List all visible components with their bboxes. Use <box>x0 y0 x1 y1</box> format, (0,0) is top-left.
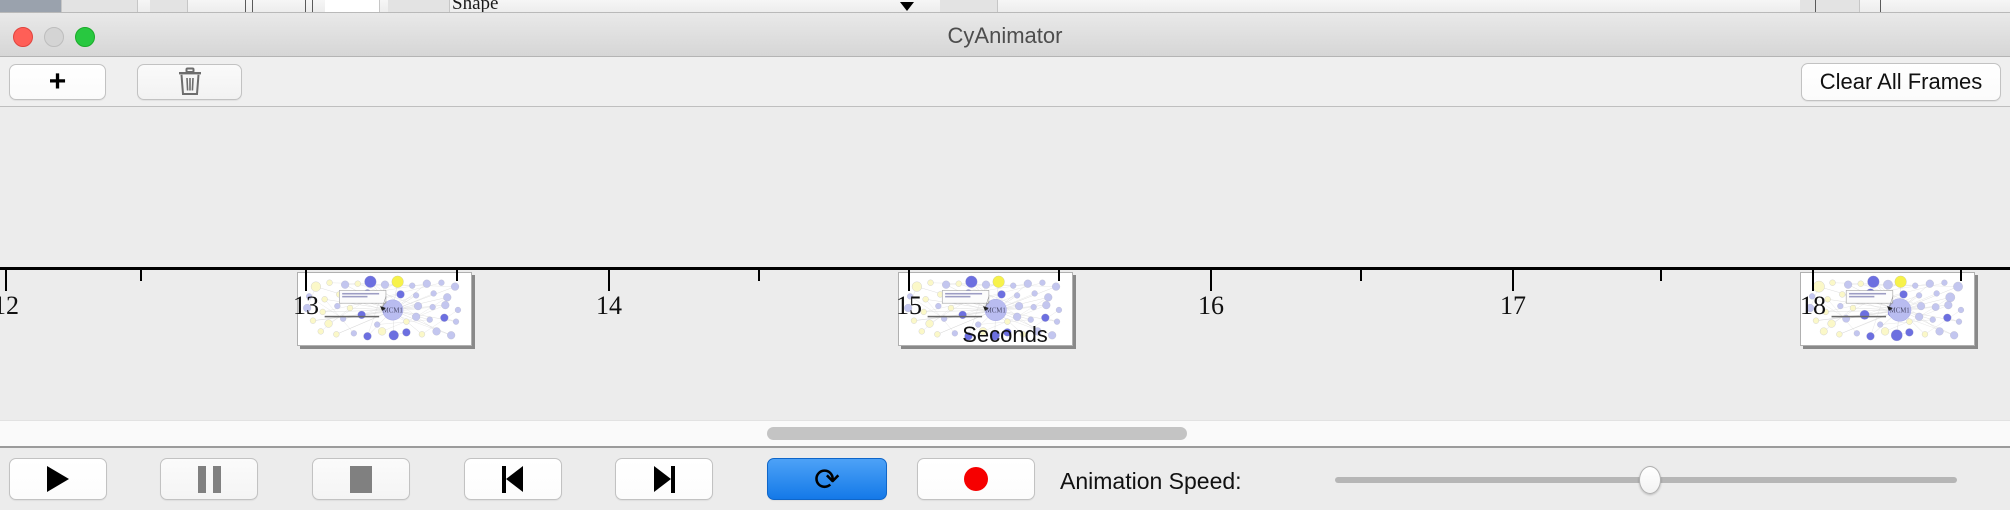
ruler-tick-major <box>908 270 910 291</box>
horizontal-scrollbar[interactable] <box>0 420 2010 446</box>
clear-all-frames-button[interactable]: Clear All Frames <box>1801 63 2001 101</box>
ruler-tick-minor <box>140 270 142 281</box>
bg-tick <box>245 0 246 13</box>
stop-icon <box>350 466 372 493</box>
bg-tick <box>252 0 253 13</box>
ruler-tick-minor <box>1960 270 1962 281</box>
toolbar: + Clear All Frames <box>0 57 2010 107</box>
window-title: CyAnimator <box>0 23 2010 49</box>
ruler-tick-label: 13 <box>293 291 319 321</box>
bg-chip <box>325 0 380 13</box>
record-button[interactable] <box>917 458 1035 500</box>
background-window: Shape <box>0 0 2010 13</box>
ruler-tick-major <box>1512 270 1514 291</box>
plus-icon: + <box>49 67 67 97</box>
animation-speed-slider[interactable] <box>1335 466 1957 494</box>
trash-icon <box>177 67 203 97</box>
bg-cursor-arrow <box>900 2 914 11</box>
record-icon <box>964 467 988 491</box>
bg-tick <box>305 0 306 13</box>
ruler-tick-label: 15 <box>896 291 922 321</box>
ruler-tick-major <box>305 270 307 291</box>
ruler-tick-minor <box>1360 270 1362 281</box>
ruler-tick-label: 12 <box>0 291 19 321</box>
ruler-tick-label: 17 <box>1500 291 1526 321</box>
bg-tick <box>312 0 313 13</box>
bg-chip <box>1800 0 1860 13</box>
play-button[interactable] <box>9 458 107 500</box>
ruler-tick-label: 18 <box>1800 291 1826 321</box>
skip-back-icon <box>500 466 526 493</box>
bg-tick <box>1815 0 1816 13</box>
ruler-tick-label: 14 <box>596 291 622 321</box>
ruler-tick-major <box>5 270 7 291</box>
skip-to-end-button[interactable] <box>615 458 713 500</box>
timeline-ruler[interactable]: 12131415161718 <box>0 267 2010 297</box>
skip-to-start-button[interactable] <box>464 458 562 500</box>
ruler-tick-minor <box>758 270 760 281</box>
svg-text:MCM1: MCM1 <box>383 308 403 315</box>
cyanimator-window: CyAnimator + Clear All Frames MCM1 MCM1 … <box>0 13 2010 510</box>
axis-title: Seconds <box>0 322 2010 348</box>
ruler-baseline <box>0 267 2010 270</box>
title-bar: CyAnimator <box>0 13 2010 57</box>
clear-all-frames-label: Clear All Frames <box>1820 69 1983 95</box>
scrollbar-thumb[interactable] <box>767 427 1187 440</box>
timeline-panel[interactable]: MCM1 MCM1 MCM1 12131415161718 Seconds <box>0 107 2010 446</box>
pause-icon <box>198 466 221 493</box>
ruler-tick-minor <box>1058 270 1060 281</box>
ruler-tick-label: 16 <box>1198 291 1224 321</box>
bg-window-label: Shape <box>452 0 498 13</box>
skip-forward-icon <box>651 466 677 493</box>
bg-chip <box>62 0 138 13</box>
loop-icon: ⟳ <box>814 464 840 495</box>
bg-chip <box>150 0 188 13</box>
bg-chip <box>388 0 450 13</box>
add-frame-button[interactable]: + <box>9 64 106 100</box>
ruler-tick-major <box>1210 270 1212 291</box>
ruler-tick-minor <box>1660 270 1662 281</box>
slider-thumb[interactable] <box>1639 466 1661 494</box>
delete-frame-button[interactable] <box>137 64 242 100</box>
ruler-tick-major <box>608 270 610 291</box>
loop-button[interactable]: ⟳ <box>767 458 887 500</box>
playback-control-bar: ⟳ Animation Speed: <box>0 446 2010 510</box>
svg-text:MCM1: MCM1 <box>1890 308 1910 315</box>
bg-tick <box>1880 0 1881 13</box>
animation-speed-label: Animation Speed: <box>1060 468 1242 495</box>
bg-chip <box>940 0 998 13</box>
play-icon <box>47 466 69 492</box>
stop-button[interactable] <box>312 458 410 500</box>
ruler-tick-major <box>1812 270 1814 291</box>
bg-chip <box>0 0 62 13</box>
ruler-tick-minor <box>456 270 458 281</box>
pause-button[interactable] <box>160 458 258 500</box>
svg-text:MCM1: MCM1 <box>986 308 1006 315</box>
